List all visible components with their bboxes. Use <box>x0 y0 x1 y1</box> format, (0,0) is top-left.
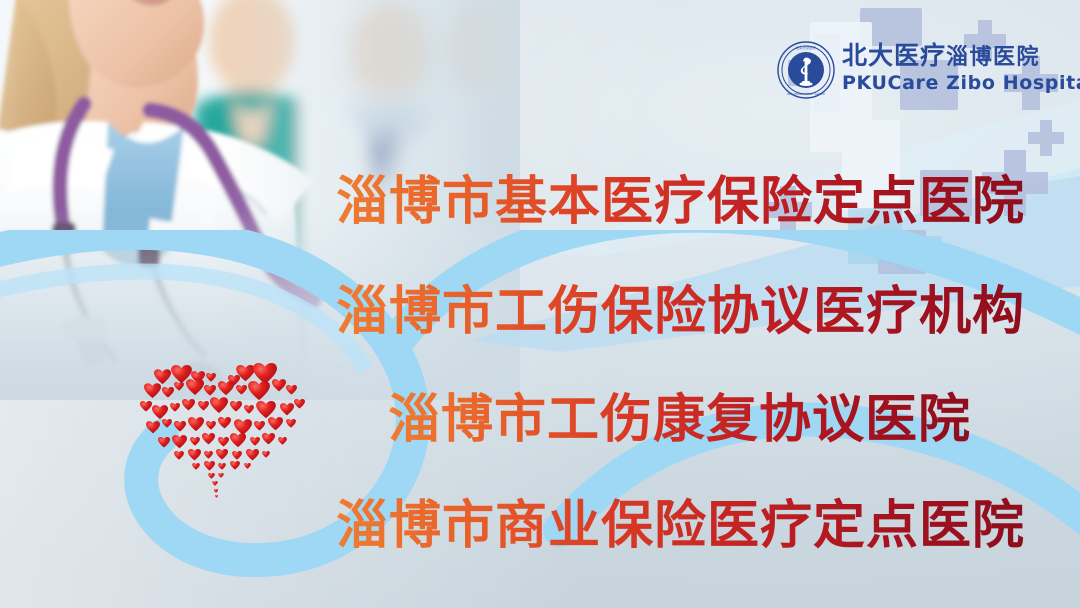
slogan-line-1-fill: 淄博市基本医疗保险定点医院 <box>336 172 1025 232</box>
slogan-line-4-fill: 淄博市商业保险医疗定点医院 <box>336 496 1025 556</box>
slogan-line-3-fill: 淄博市工伤康复协议医院 <box>388 390 971 450</box>
slogan-line-4: 淄博市商业保险医疗定点医院 淄博市商业保险医疗定点医院 <box>336 500 1025 552</box>
slogan-list: 淄博市基本医疗保险定点医院 淄博市基本医疗保险定点医院 淄博市工伤保险协议医疗机… <box>0 0 1080 608</box>
slogan-line-2: 淄博市工伤保险协议医疗机构 淄博市工伤保险协议医疗机构 <box>336 286 1025 338</box>
slogan-line-2-fill: 淄博市工伤保险协议医疗机构 <box>336 282 1025 342</box>
slogan-line-3: 淄博市工伤康复协议医院 淄博市工伤康复协议医院 <box>388 394 971 446</box>
banner-canvas: 北京大学医疗 PKU HEALTHCARE GROUP 北大医疗淄博医院 PKU… <box>0 0 1080 608</box>
slogan-line-1: 淄博市基本医疗保险定点医院 淄博市基本医疗保险定点医院 <box>336 176 1025 228</box>
